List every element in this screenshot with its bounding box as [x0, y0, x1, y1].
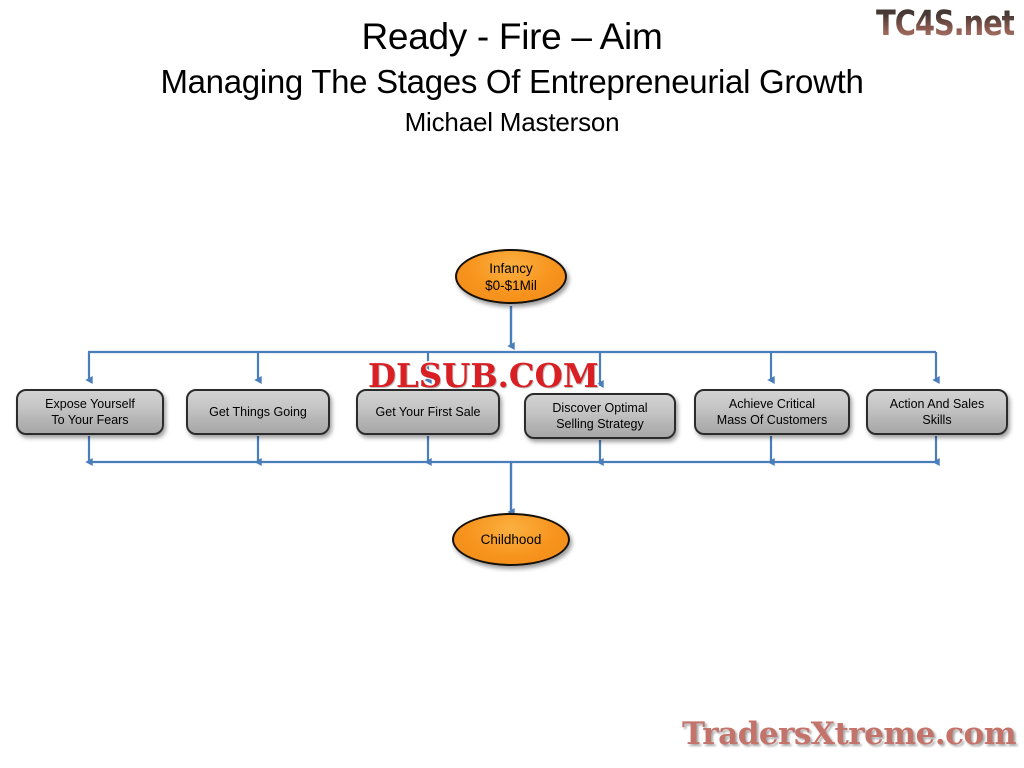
process-box-1-line1: Expose Yourself — [45, 396, 135, 412]
process-box-2-line1: Get Things Going — [209, 404, 307, 420]
watermark-tc4s-logo: TC4S.net — [876, 2, 1014, 46]
process-box-1-line2: To Your Fears — [45, 412, 135, 428]
process-box-achieve-critical-mass-of-customers[interactable]: Achieve Critical Mass Of Customers — [694, 389, 850, 435]
watermark-tradersxtreme-logo: TradersXtreme.com — [682, 716, 1016, 752]
process-box-get-your-first-sale[interactable]: Get Your First Sale — [356, 389, 500, 435]
stage-oval-infancy[interactable]: Infancy $0-$1Mil — [455, 249, 567, 304]
stage-oval-infancy-line2: $0-$1Mil — [485, 277, 537, 294]
stage-oval-childhood[interactable]: Childhood — [452, 513, 570, 566]
process-box-3-line1: Get Your First Sale — [376, 404, 481, 420]
process-box-action-and-sales-skills[interactable]: Action And Sales Skills — [866, 389, 1008, 435]
watermark-dlsub-logo: DLSUB.COM — [368, 359, 599, 393]
process-box-4-line1: Discover Optimal — [552, 400, 647, 416]
stage-oval-infancy-line1: Infancy — [489, 260, 533, 277]
process-box-4-line2: Selling Strategy — [552, 416, 647, 432]
process-box-5-line1: Achieve Critical — [717, 396, 827, 412]
process-box-get-things-going[interactable]: Get Things Going — [186, 389, 330, 435]
process-box-5-line2: Mass Of Customers — [717, 412, 827, 428]
stage-oval-childhood-line1: Childhood — [481, 531, 542, 548]
process-box-discover-optimal-selling-strategy[interactable]: Discover Optimal Selling Strategy — [524, 393, 676, 439]
process-box-6-line1: Action And Sales — [890, 396, 985, 412]
process-box-expose-yourself-to-your-fears[interactable]: Expose Yourself To Your Fears — [16, 389, 164, 435]
process-box-6-line2: Skills — [890, 412, 985, 428]
